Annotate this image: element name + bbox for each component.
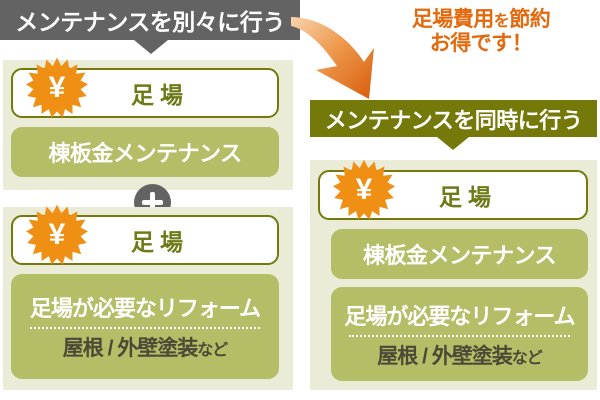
right-yen-starburst-icon: ¥ — [333, 159, 395, 221]
left-group-2-item-pill[interactable]: 足場が必要なリフォーム 屋根 / 外壁塗装など — [11, 274, 279, 379]
right-item-pill-2-line2-suffix: など — [512, 350, 542, 367]
savings-callout-row1: 足場費用を節約 — [365, 8, 597, 32]
savings-callout-row1-particle: を — [494, 13, 510, 30]
savings-callout-row1-main: 足場費用 — [412, 8, 494, 31]
savings-callout-row1-tail: 節約 — [509, 8, 550, 31]
left-group-1-item-pill[interactable]: 棟板金メンテナンス — [11, 127, 279, 177]
left-header-bar: メンテナンスを別々に行う — [0, 0, 300, 40]
left-group-1-yen-starburst-icon: ¥ — [26, 57, 88, 119]
right-item-pill-2[interactable]: 足場が必要なリフォーム 屋根 / 外壁塗装など — [331, 287, 588, 381]
right-item-pill-2-dotted-divider — [349, 335, 570, 337]
right-item-pill-2-line1: 足場が必要なリフォーム — [344, 299, 574, 331]
left-group-2-yen-symbol: ¥ — [26, 204, 88, 266]
left-group-2-item-line1: 足場が必要なリフォーム — [30, 291, 260, 323]
left-group-2-scaffold-label: 足場 — [101, 223, 189, 257]
right-item-pill-1-label: 棟板金メンテナンス — [363, 238, 556, 270]
right-scaffold-label: 足場 — [409, 178, 497, 212]
left-group-2-yen-starburst-icon: ¥ — [26, 204, 88, 266]
left-group-2-dotted-divider — [30, 327, 260, 329]
right-yen-symbol: ¥ — [333, 159, 395, 221]
right-item-pill-2-line2-main: 屋根 / 外壁塗装 — [377, 345, 512, 368]
right-item-pill-1[interactable]: 棟板金メンテナンス — [331, 229, 588, 279]
left-group-2-item-line2-main: 屋根 / 外壁塗装 — [63, 337, 198, 360]
left-header-label: メンテナンスを別々に行う — [0, 0, 300, 40]
right-item-pill-2-line2: 屋根 / 外壁塗装など — [377, 340, 542, 370]
left-header-notch-icon — [134, 40, 168, 54]
right-header-label: メンテナンスを同時に行う — [310, 100, 597, 137]
left-group-2-item-line2-suffix: など — [197, 342, 227, 359]
left-group-1-yen-symbol: ¥ — [26, 57, 88, 119]
savings-callout-row2: お得です！ — [365, 32, 597, 56]
left-group-1-item-label: 棟板金メンテナンス — [48, 136, 241, 168]
right-header-bar: メンテナンスを同時に行う — [310, 100, 597, 137]
left-group-1-scaffold-label: 足場 — [101, 76, 189, 110]
left-group-2-item-line2: 屋根 / 外壁塗装など — [63, 332, 228, 362]
right-header-notch-icon — [437, 137, 469, 150]
savings-callout: 足場費用を節約 お得です！ — [365, 8, 597, 55]
